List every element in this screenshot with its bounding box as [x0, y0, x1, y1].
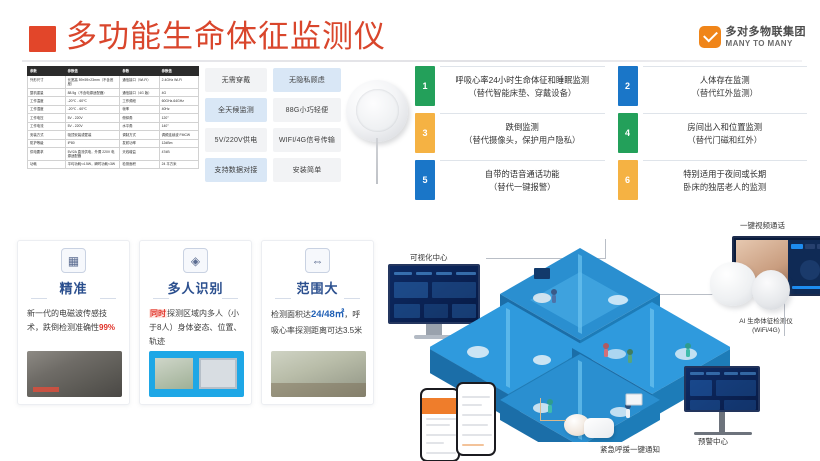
- feature-card-1: ▦精准新一代的电磁波传感技术，跌倒检测准确性99%: [17, 240, 130, 405]
- leader-line-emergency-h: [540, 420, 566, 421]
- spec-cell-1-4: 2.4GHz Wi-Fi: [159, 76, 198, 89]
- feature-card-title: 精准: [27, 278, 120, 301]
- spec-cell-9-4: 47dB: [159, 148, 198, 161]
- benefit-line-2: （替代一键报警）: [489, 181, 555, 194]
- benefit-number-badge: 4: [618, 113, 638, 153]
- feature-chip-3[interactable]: 全天候监测: [205, 98, 267, 122]
- card-body-text: 新一代的电磁波传感技术，跌倒检测准确性: [27, 309, 107, 332]
- label-ai-sensor: AI 生命体征检测仪 (WiFi/4G): [718, 318, 814, 336]
- spec-cell-3-2: -20℃ - 60℃: [65, 97, 120, 105]
- system-diagram: 可视化中心 一键视频通话 AI 生命体征检测仪 (WiFi/4G) 护理人员数据…: [388, 218, 818, 458]
- spec-cell-2-4: 4G: [159, 88, 198, 96]
- spec-cell-1-1: 外形尺寸: [28, 76, 66, 89]
- benefit-line-2: （替代红外监测）: [692, 87, 758, 100]
- brand-logo: 多对多物联集团 MANY TO MANY: [699, 26, 807, 48]
- label-ai-sensor-sub: (WiFi/4G): [752, 327, 780, 334]
- spec-table-row: 整机重量88.5g（不含电源适配器）通信接口（4G 版）4G: [28, 88, 199, 96]
- spec-cell-5-2: 5V - 220V: [65, 114, 120, 122]
- room-demo-photo: [271, 351, 366, 397]
- header-divider: [22, 60, 802, 62]
- spec-col-header-2: 参数值: [65, 67, 120, 76]
- benefit-text: 呼吸心率24小时生命体征和睡眠监测（替代智能床垫、穿戴设备）: [440, 66, 605, 106]
- page-title: 多功能生命体征监测仪: [66, 18, 386, 56]
- title-bullet-icon: [29, 26, 56, 52]
- benefit-item-2: 2人体存在监测（替代红外监测）: [618, 66, 808, 106]
- spec-col-header-4: 参数值: [159, 67, 198, 76]
- spec-cell-10-3: 检测面积: [120, 160, 159, 168]
- spec-table-row: 工作湿度-20℃ - 60℃帧率40Hz: [28, 105, 199, 113]
- feature-chip-6[interactable]: WIFI/4G信号传输: [273, 128, 341, 152]
- spec-cell-5-3: 俯仰角: [120, 114, 159, 122]
- spec-cell-8-2: IP80: [65, 139, 120, 147]
- spec-cell-4-3: 帧率: [120, 105, 159, 113]
- benefit-text: 自带的语音通话功能（替代一键报警）: [440, 160, 605, 200]
- emergency-button-icon: [584, 418, 614, 438]
- spec-cell-2-3: 通信接口（4G 版）: [120, 88, 159, 96]
- check-badge-icon: [699, 26, 721, 48]
- range-icon: ⇔: [305, 248, 330, 273]
- video-call-sidepane: [788, 240, 820, 294]
- card-body-text: 检测面积达: [271, 310, 311, 319]
- feature-chip-2[interactable]: 无隐私顾虑: [273, 68, 341, 92]
- spec-cell-10-2: 平均功耗<4.5W，瞬时功耗<3W: [65, 160, 120, 168]
- spec-cell-4-1: 工作湿度: [28, 105, 66, 113]
- spec-col-header-1: 参数: [28, 67, 66, 76]
- spec-cell-3-3: 工作频段: [120, 97, 159, 105]
- feature-chip-8[interactable]: 安装简单: [273, 158, 341, 182]
- spec-table-row: 工作电流5V - 220V水平角140°: [28, 122, 199, 130]
- benefit-line-2: （替代门磁和红外）: [687, 134, 762, 147]
- card-body-highlight: 99%: [99, 323, 115, 332]
- feature-card-body: 同时探测区域内多人（小于8人）身体姿态、位置、轨迹: [149, 307, 242, 349]
- spec-table-header-row: 参数参数值参数参数值: [28, 67, 199, 76]
- spec-cell-7-4: 调频连续波 FMCW: [159, 131, 198, 139]
- benefit-number-badge: 2: [618, 66, 638, 106]
- spec-cell-7-2: 吸顶安装或壁装: [65, 131, 120, 139]
- card-body-highlight: 同时: [149, 309, 167, 318]
- feature-card-row: ▦精准新一代的电磁波传感技术，跌倒检测准确性99%◈多人识别同时探测区域内多人（…: [17, 240, 374, 405]
- benefit-text: 特别适用于夜间或长期卧床的独居老人的监测: [643, 160, 808, 200]
- feature-card-title: 多人识别: [149, 278, 242, 301]
- benefit-line-2: （替代摄像头，保护用户隐私）: [464, 134, 580, 147]
- feature-card-2: ◈多人识别同时探测区域内多人（小于8人）身体姿态、位置、轨迹: [139, 240, 252, 405]
- spec-cell-6-4: 140°: [159, 122, 198, 130]
- feature-chip-4[interactable]: 88G小巧轻便: [273, 98, 341, 122]
- spec-cell-3-1: 工作温度: [28, 97, 66, 105]
- benefit-line-2: （替代智能床垫、穿戴设备）: [468, 87, 576, 100]
- feature-chip-grid: 无需穿戴无隐私顾虑全天候监测88G小巧轻便5V/220V供电WIFI/4G信号传…: [205, 68, 341, 182]
- alarm-monitor-base: [694, 432, 752, 435]
- spec-cell-8-3: 发射功率: [120, 139, 159, 147]
- nurse-phone-2: [456, 382, 496, 456]
- spec-table-row: 防护等级IP80发射功率12dBm: [28, 139, 199, 147]
- feature-chip-1[interactable]: 无需穿戴: [205, 68, 267, 92]
- feature-chip-5[interactable]: 5V/220V供电: [205, 128, 267, 152]
- benefit-number-badge: 6: [618, 160, 638, 200]
- feature-card-3: ⇔范围大检测面积达24/48㎡，呼吸心率探测距离可达3.5米: [261, 240, 374, 405]
- spec-cell-8-4: 12dBm: [159, 139, 198, 147]
- spec-table: 参数参数值参数参数值 外形尺寸长宽高 59×59×23mm（不含底座）通信接口（…: [27, 66, 199, 169]
- spec-table-row: 安装方式吸顶安装或壁装调制方式调频连续波 FMCW: [28, 131, 199, 139]
- spec-cell-10-4: 24 平方米: [159, 160, 198, 168]
- feature-chip-7[interactable]: 支持数据对接: [205, 158, 267, 182]
- spec-cell-4-2: -20℃ - 60℃: [65, 105, 120, 113]
- spec-cell-9-2: 5V/2A 直流供电，外置 220V 电源适配器: [65, 148, 120, 161]
- benefit-item-5: 5自带的语音通话功能（替代一键报警）: [415, 160, 605, 200]
- spec-col-header-3: 参数: [120, 67, 159, 76]
- spec-cell-6-3: 水平角: [120, 122, 159, 130]
- slide-root: 多功能生命体征监测仪 多对多物联集团 MANY TO MANY 参数参数值参数参…: [0, 0, 820, 461]
- spec-cell-5-1: 工作电压: [28, 114, 66, 122]
- benefit-line-1: 呼吸心率24小时生命体征和睡眠监测: [455, 74, 589, 87]
- spec-cell-1-3: 通信接口（Wi-Fi）: [120, 76, 159, 89]
- spec-table-row: 功耗平均功耗<4.5W，瞬时功耗<3W检测面积24 平方米: [28, 160, 199, 168]
- benefit-line-2: 卧床的独居老人的监测: [683, 181, 766, 194]
- feature-card-title: 范围大: [271, 278, 364, 301]
- benefit-line-1: 自带的语音通话功能: [485, 168, 560, 181]
- multi-person-demo-photo: [149, 351, 244, 397]
- spec-cell-9-1: 供电要求: [28, 148, 66, 161]
- nurse-phone-1: [420, 388, 460, 461]
- sensor-puck-icon: [346, 80, 408, 142]
- label-emergency-call: 紧急呼援一键通知: [600, 444, 660, 455]
- benefit-grid: 1呼吸心率24小时生命体征和睡眠监测（替代智能床垫、穿戴设备）2人体存在监测（替…: [415, 66, 807, 200]
- spec-table-row: 工作温度-20℃ - 60℃工作频段60GHz-64GHz: [28, 97, 199, 105]
- benefit-text: 跌倒监测（替代摄像头，保护用户隐私）: [440, 113, 605, 153]
- benefit-line-1: 跌倒监测: [506, 121, 539, 134]
- benefit-text: 人体存在监测（替代红外监测）: [643, 66, 808, 106]
- spec-cell-9-3: 天线增益: [120, 148, 159, 161]
- spec-cell-2-1: 整机重量: [28, 88, 66, 96]
- page-header: 多功能生命体征监测仪 多对多物联集团 MANY TO MANY: [0, 0, 820, 62]
- benefit-item-3: 3跌倒监测（替代摄像头，保护用户隐私）: [415, 113, 605, 153]
- spec-cell-6-2: 5V - 220V: [65, 122, 120, 130]
- brand-name-en: MANY TO MANY: [726, 40, 807, 48]
- benefit-text: 房间出入和位置监测（替代门磁和红外）: [643, 113, 808, 153]
- spec-table-row: 供电要求5V/2A 直流供电，外置 220V 电源适配器天线增益47dB: [28, 148, 199, 161]
- spec-table-row: 外形尺寸长宽高 59×59×23mm（不含底座）通信接口（Wi-Fi）2.4GH…: [28, 76, 199, 89]
- spec-cell-6-1: 工作电流: [28, 122, 66, 130]
- device-photo: [340, 72, 414, 190]
- spec-cell-10-1: 功耗: [28, 160, 66, 168]
- alarm-center-monitor: [684, 366, 760, 412]
- feature-card-body: 新一代的电磁波传感技术，跌倒检测准确性99%: [27, 307, 120, 335]
- radar-grid-icon: ▦: [61, 248, 86, 273]
- spec-cell-4-4: 40Hz: [159, 105, 198, 113]
- spec-table-row: 工作电压5V - 220V俯仰角120°: [28, 114, 199, 122]
- feature-card-body: 检测面积达24/48㎡，呼吸心率探测距离可达3.5米: [271, 307, 364, 338]
- spec-cell-1-2: 长宽高 59×59×23mm（不含底座）: [65, 76, 120, 89]
- ai-sensor-device-front: [710, 262, 756, 306]
- brand-logo-text: 多对多物联集团 MANY TO MANY: [726, 27, 807, 48]
- spec-cell-7-3: 调制方式: [120, 131, 159, 139]
- spec-cell-2-2: 88.5g（不含电源适配器）: [65, 88, 120, 96]
- spec-cell-3-4: 60GHz-64GHz: [159, 97, 198, 105]
- spec-cell-7-1: 安装方式: [28, 131, 66, 139]
- alarm-monitor-stand: [719, 412, 725, 434]
- benefit-line-1: 人体存在监测: [700, 74, 750, 87]
- benefit-number-badge: 3: [415, 113, 435, 153]
- spec-cell-5-4: 120°: [159, 114, 198, 122]
- benefit-item-6: 6特别适用于夜间或长期卧床的独居老人的监测: [618, 160, 808, 200]
- ai-sensor-device-side: [752, 270, 790, 310]
- benefit-number-badge: 1: [415, 66, 435, 106]
- label-one-key-video-call: 一键视频通话: [740, 220, 785, 231]
- brand-name-cn: 多对多物联集团: [726, 27, 807, 38]
- spec-cell-8-1: 防护等级: [28, 139, 66, 147]
- benefit-line-1: 特别适用于夜间或长期: [683, 168, 766, 181]
- leader-line-emergency: [540, 398, 541, 420]
- corridor-demo-photo: [27, 351, 122, 397]
- benefit-line-1: 房间出入和位置监测: [687, 121, 762, 134]
- benefit-item-4: 4房间出入和位置监测（替代门磁和红外）: [618, 113, 808, 153]
- benefit-number-badge: 5: [415, 160, 435, 200]
- card-body-highlight: 24/48㎡: [311, 309, 344, 320]
- benefit-item-1: 1呼吸心率24小时生命体征和睡眠监测（替代智能床垫、穿戴设备）: [415, 66, 605, 106]
- device-cable: [376, 138, 378, 184]
- multi-person-icon: ◈: [183, 248, 208, 273]
